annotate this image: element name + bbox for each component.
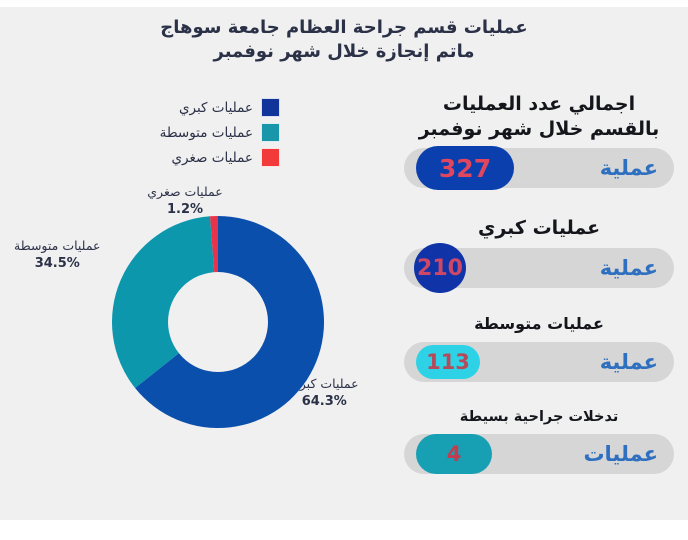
stat-value-major: 210 [414, 243, 466, 293]
stat-value-minor: 4 [416, 434, 492, 474]
infographic-root: عمليات قسم جراحة العظام جامعة سوهاج ماتم… [0, 0, 688, 540]
title-line-2: ماتم إنجازة خلال شهر نوفمبر [0, 40, 688, 64]
legend-label-major: عمليات كبري [179, 100, 253, 116]
legend-swatch-medium-icon [261, 123, 280, 142]
donut-chart [112, 216, 324, 428]
page-title: عمليات قسم جراحة العظام جامعة سوهاج ماتم… [0, 16, 688, 65]
stat-block-total: اجمالي عدد العمليات بالقسم خلال شهر نوفم… [404, 92, 674, 188]
spacer-3 [404, 388, 674, 408]
stat-unit-medium: عملية [600, 350, 658, 374]
stat-block-medium: عمليات متوسطة عملية 113 [404, 314, 674, 382]
stat-heading-total: اجمالي عدد العمليات بالقسم خلال شهر نوفم… [404, 92, 674, 141]
donut-center-hole [168, 272, 268, 372]
spacer-1 [404, 194, 674, 216]
chart-area: عمليات كبري عمليات متوسطة عمليات صغري عم… [0, 88, 400, 488]
slice-label-medium-name: عمليات متوسطة [14, 238, 101, 253]
slice-label-medium: عمليات متوسطة 34.5% [14, 238, 101, 272]
legend-label-minor: عمليات صغري [171, 150, 253, 166]
stat-bar-minor[interactable]: عمليات 4 [404, 434, 674, 474]
spacer-2 [404, 294, 674, 314]
slice-label-medium-pct: 34.5% [14, 255, 101, 273]
legend-item-minor[interactable]: عمليات صغري [160, 148, 280, 167]
title-line-1: عمليات قسم جراحة العظام جامعة سوهاج [0, 16, 688, 40]
legend-item-major[interactable]: عمليات كبري [160, 98, 280, 117]
legend-swatch-minor-icon [261, 148, 280, 167]
donut-chart-svg [112, 216, 324, 428]
slice-label-minor-name: عمليات صغري [147, 184, 222, 199]
stat-bar-total[interactable]: عملية 327 [404, 148, 674, 188]
legend-swatch-major-icon [261, 98, 280, 117]
stat-value-medium: 113 [416, 345, 480, 379]
stat-heading-minor: تدخلات جراحية بسيطة [404, 408, 674, 427]
stat-block-minor: تدخلات جراحية بسيطة عمليات 4 [404, 408, 674, 474]
stat-value-total: 327 [416, 146, 514, 190]
stat-unit-major: عملية [600, 256, 658, 280]
stat-unit-total: عملية [600, 156, 658, 180]
slice-label-minor: عمليات صغري 1.2% [147, 184, 222, 218]
stat-bar-medium[interactable]: عملية 113 [404, 342, 674, 382]
stat-unit-minor: عمليات [583, 442, 658, 466]
stat-block-major: عمليات كبري عملية 210 [404, 216, 674, 288]
legend-item-medium[interactable]: عمليات متوسطة [160, 123, 280, 142]
stat-bar-major[interactable]: عملية 210 [404, 248, 674, 288]
legend-label-medium: عمليات متوسطة [160, 125, 253, 141]
stat-heading-medium: عمليات متوسطة [404, 314, 674, 335]
chart-legend: عمليات كبري عمليات متوسطة عمليات صغري [160, 98, 280, 167]
stat-heading-major: عمليات كبري [404, 216, 674, 241]
stats-panel: اجمالي عدد العمليات بالقسم خلال شهر نوفم… [404, 92, 674, 480]
